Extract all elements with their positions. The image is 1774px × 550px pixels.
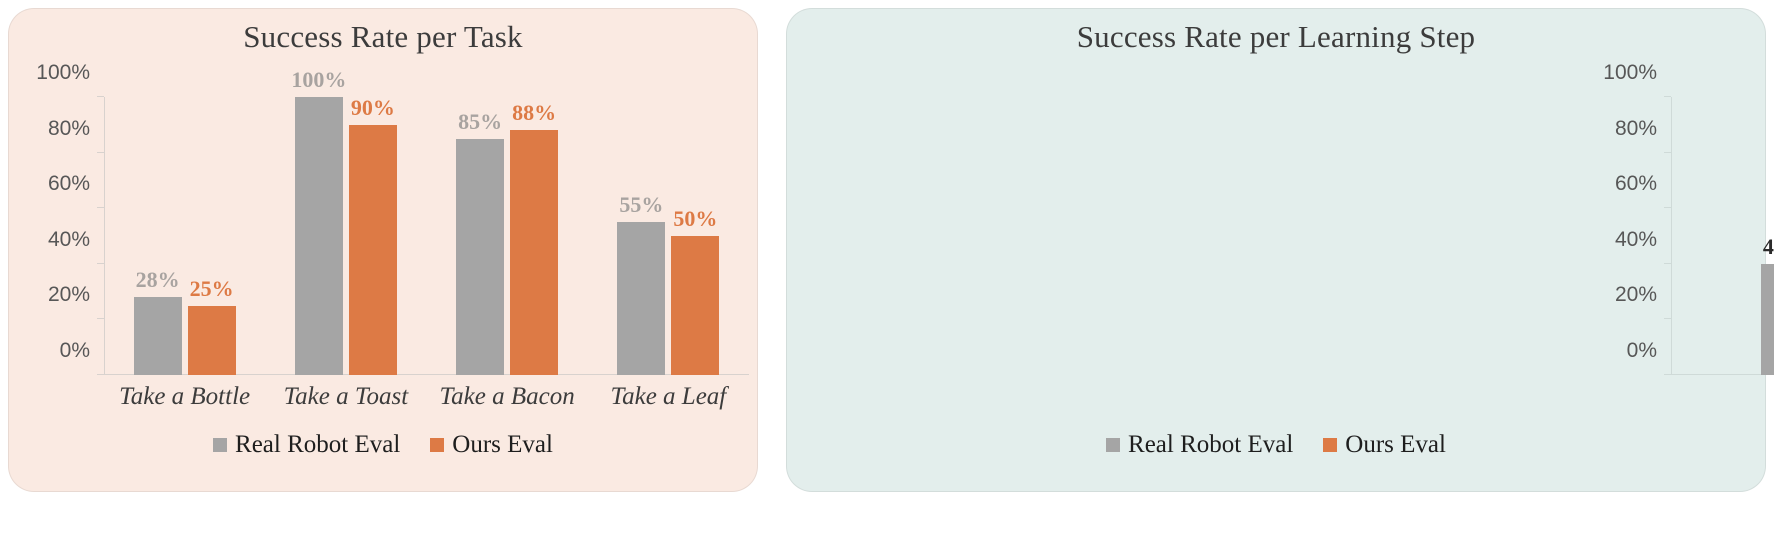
bar-data-label: 100% — [291, 69, 346, 91]
bar-groups-task: 28% 25% 100% 90% — [104, 97, 749, 375]
legend-label: Real Robot Eval — [1128, 431, 1293, 459]
y-axis-label-100: 100% — [36, 61, 90, 85]
y-axis-label-60: 60% — [48, 172, 90, 196]
bar-real-robot-eval — [295, 97, 343, 375]
y-tick-80 — [1664, 152, 1671, 153]
y-tick-100 — [97, 96, 104, 97]
y-tick-60 — [97, 207, 104, 208]
bar-groups-learning-step: 40% 40% 61% 63% — [1671, 97, 1774, 375]
y-tick-80 — [97, 152, 104, 153]
bar-ours-eval — [349, 125, 397, 375]
legend-swatch-icon — [1106, 438, 1120, 452]
legend-learning-step: Real Robot Eval Ours Eval — [787, 431, 1765, 459]
bar-ours-eval — [510, 130, 558, 375]
bar-real-robot-eval — [456, 139, 504, 375]
chart-title-task: Success Rate per Task — [9, 19, 757, 55]
bar-data-label: 88% — [512, 102, 556, 124]
x-axis-label: Take a Leaf — [588, 383, 749, 411]
x-axis-labels-learning-step: 4K 8K 13K — [1671, 383, 1774, 411]
y-axis-label-20: 20% — [48, 283, 90, 307]
bar-data-label: 50% — [673, 208, 717, 230]
bar-slot: 88% — [510, 97, 558, 375]
legend-swatch-icon — [430, 438, 444, 452]
legend-swatch-icon — [1323, 438, 1337, 452]
plot-area-task: 0% 20% 40% 60% 80% 100% 28% 25% — [104, 97, 749, 375]
legend-item-ours-eval[interactable]: Ours Eval — [1323, 431, 1446, 459]
x-axis-label: Take a Toast — [265, 383, 426, 411]
y-axis-label-100: 100% — [1603, 61, 1657, 85]
legend-label: Ours Eval — [452, 431, 553, 459]
legend-label: Ours Eval — [1345, 431, 1446, 459]
bar-data-label: 40% — [1763, 236, 1774, 258]
legend-label: Real Robot Eval — [235, 431, 400, 459]
bar-slot: 100% — [295, 97, 343, 375]
y-tick-40 — [1664, 263, 1671, 264]
y-axis-label-20: 20% — [1615, 283, 1657, 307]
chart-panel-learning-step: Success Rate per Learning Step 0% 20% 40… — [786, 8, 1766, 492]
bar-data-label: 55% — [619, 194, 663, 216]
plot-area-learning-step: 0% 20% 40% 60% 80% 100% 40% 40% — [1671, 97, 1774, 375]
bar-group: 40% 40% — [1671, 97, 1774, 375]
bar-slot: 50% — [671, 97, 719, 375]
y-axis-label-40: 40% — [48, 228, 90, 252]
y-axis-label-60: 60% — [1615, 172, 1657, 196]
legend-item-real-robot-eval[interactable]: Real Robot Eval — [1106, 431, 1293, 459]
legend-item-real-robot-eval[interactable]: Real Robot Eval — [213, 431, 400, 459]
bar-data-label: 85% — [458, 111, 502, 133]
y-tick-0 — [97, 374, 104, 375]
y-axis-label-80: 80% — [48, 117, 90, 141]
bar-data-label: 28% — [136, 269, 180, 291]
x-axis-label: 4K — [1671, 383, 1774, 411]
bar-group: 55% 50% — [588, 97, 749, 375]
x-axis-labels-task: Take a Bottle Take a Toast Take a Bacon … — [104, 383, 749, 411]
bar-slot: 28% — [134, 97, 182, 375]
chart-title-learning-step: Success Rate per Learning Step — [787, 19, 1765, 55]
bar-slot: 85% — [456, 97, 504, 375]
x-axis-label: Take a Bacon — [427, 383, 588, 411]
bar-real-robot-eval — [1761, 264, 1774, 375]
legend-task: Real Robot Eval Ours Eval — [9, 431, 757, 459]
bar-real-robot-eval — [134, 297, 182, 375]
y-tick-0 — [1664, 374, 1671, 375]
y-axis-label-0: 0% — [1627, 339, 1657, 363]
y-tick-20 — [1664, 318, 1671, 319]
bar-data-label: 25% — [190, 278, 234, 300]
bar-slot: 90% — [349, 97, 397, 375]
legend-item-ours-eval[interactable]: Ours Eval — [430, 431, 553, 459]
x-axis-label: Take a Bottle — [104, 383, 265, 411]
y-tick-40 — [97, 263, 104, 264]
bar-slot: 25% — [188, 97, 236, 375]
y-tick-20 — [97, 318, 104, 319]
bar-ours-eval — [188, 306, 236, 376]
figure-root: Success Rate per Task 0% 20% 40% 60% 80%… — [0, 0, 1774, 550]
bar-group: 85% 88% — [427, 97, 588, 375]
chart-panel-task: Success Rate per Task 0% 20% 40% 60% 80%… — [8, 8, 758, 492]
y-axis-label-0: 0% — [60, 339, 90, 363]
y-tick-100 — [1664, 96, 1671, 97]
y-axis-label-40: 40% — [1615, 228, 1657, 252]
bar-data-label: 90% — [351, 97, 395, 119]
bar-slot: 40% — [1761, 97, 1774, 375]
bar-slot: 55% — [617, 97, 665, 375]
legend-swatch-icon — [213, 438, 227, 452]
y-tick-60 — [1664, 207, 1671, 208]
bar-ours-eval — [671, 236, 719, 375]
bar-group: 100% 90% — [265, 97, 426, 375]
bar-group: 28% 25% — [104, 97, 265, 375]
bar-real-robot-eval — [617, 222, 665, 375]
y-axis-label-80: 80% — [1615, 117, 1657, 141]
